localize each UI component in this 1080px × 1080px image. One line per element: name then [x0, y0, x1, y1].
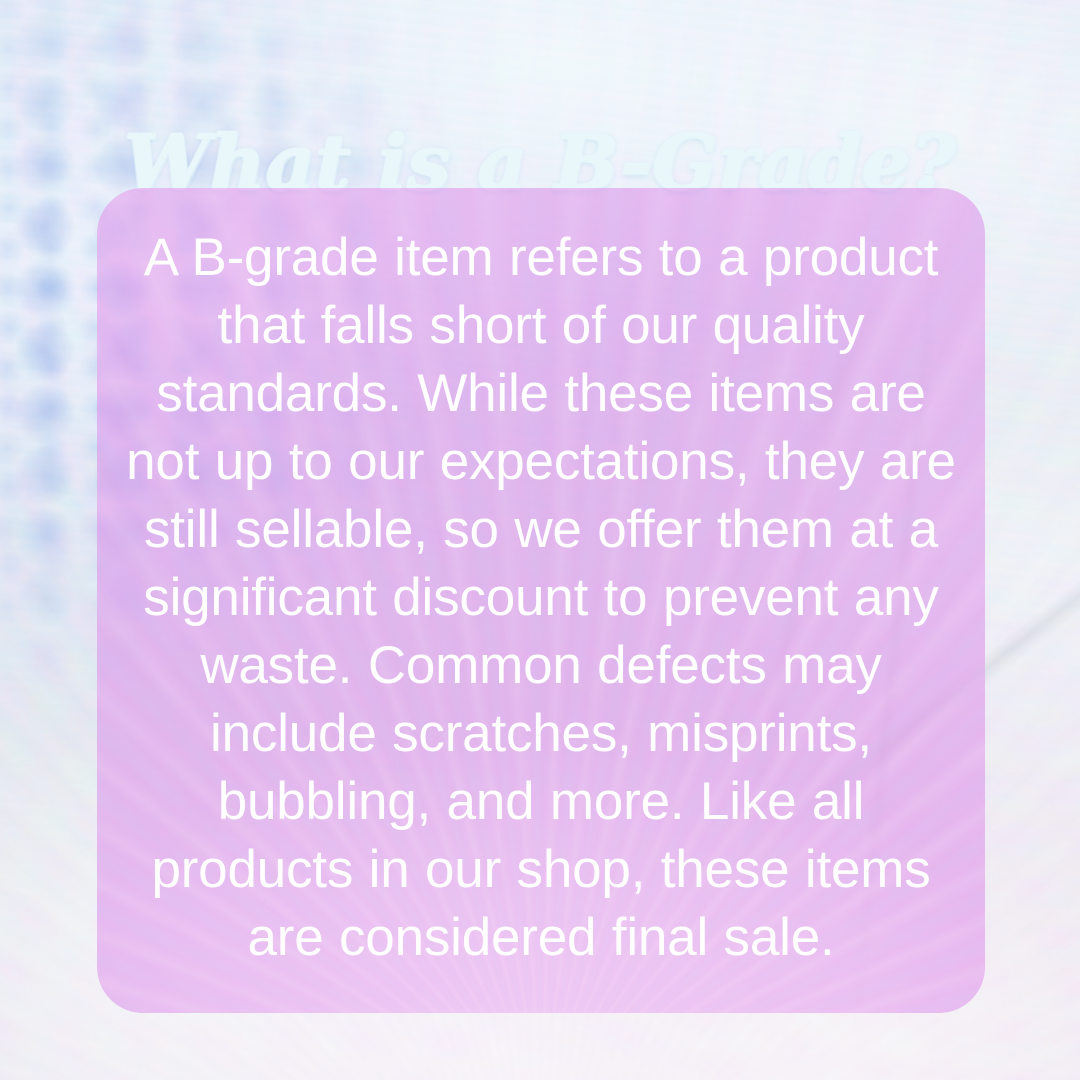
social-post-canvas: What is a B-Grade? A B-grade item refers… — [0, 0, 1080, 1080]
card-body-text: A B-grade item refers to a product that … — [97, 188, 985, 972]
info-card: A B-grade item refers to a product that … — [97, 188, 985, 1013]
